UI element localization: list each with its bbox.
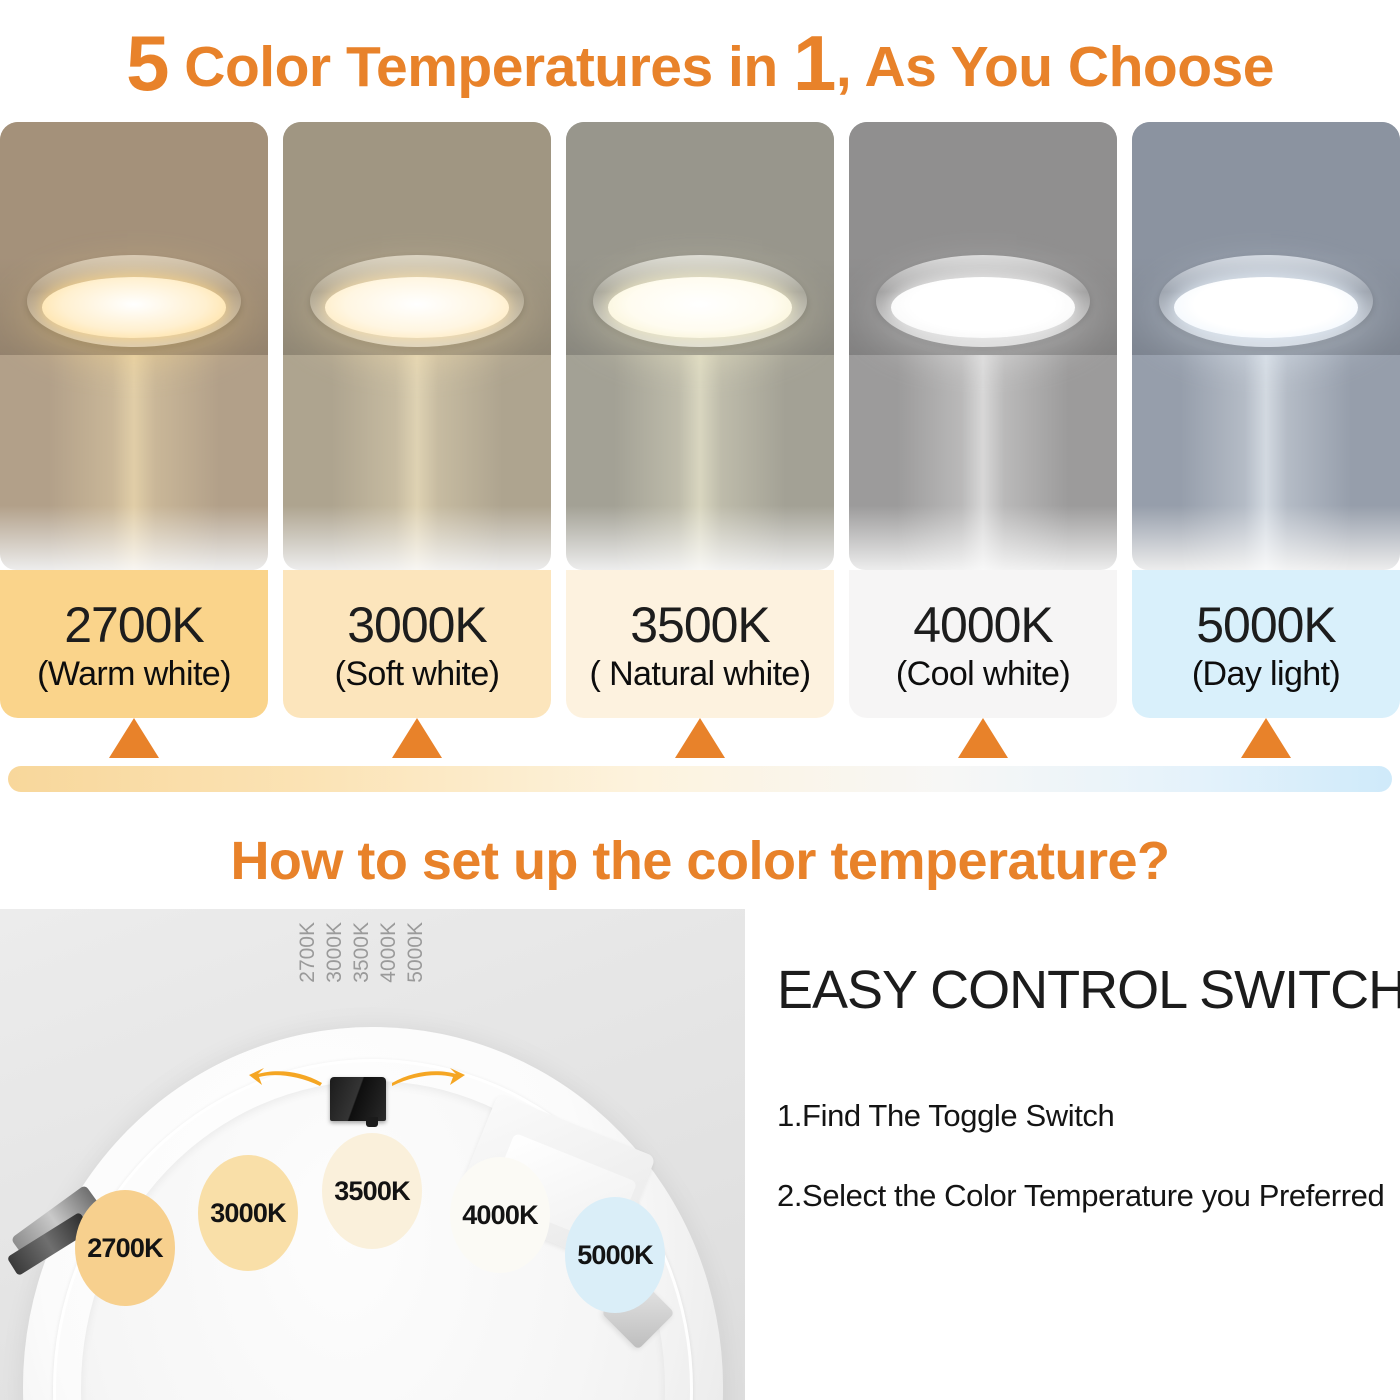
pointer-triangle <box>958 718 1008 758</box>
ceiling-lamp <box>593 255 807 347</box>
instruction-step-1: 1.Find The Toggle Switch <box>777 1097 1114 1135</box>
bubble-5000k: 5000K <box>565 1197 665 1313</box>
lamp-face <box>325 277 509 338</box>
lamp-face <box>1174 277 1358 338</box>
kelvin-value: 3000K <box>347 597 487 653</box>
lamp-face <box>608 277 792 338</box>
lamp-face <box>891 277 1075 338</box>
kelvin-tick-4000k: 4000K <box>377 922 401 983</box>
light-beam <box>283 355 551 570</box>
temperature-panel-3000k: 3000K(Soft white) <box>283 122 551 742</box>
pointer-triangle <box>392 718 442 758</box>
instruction-step-2: 2.Select the Color Temperature you Prefe… <box>777 1177 1384 1215</box>
ceiling-lamp <box>27 255 241 347</box>
setup-subheading: How to set up the color temperature? <box>0 828 1400 894</box>
scene-image <box>566 122 834 570</box>
arrow-right-icon <box>390 1066 466 1088</box>
kelvin-tick-5000k: 5000K <box>404 922 428 983</box>
light-beam <box>566 355 834 570</box>
temperature-label: 3000K(Soft white) <box>283 570 551 718</box>
scene-image <box>0 122 268 570</box>
temperature-panel-4000k: 4000K(Cool white) <box>849 122 1117 742</box>
infographic-page: 5 Color Temperatures in 1, As You Choose… <box>0 0 1400 1400</box>
scene-image <box>1132 122 1400 570</box>
pointer-triangle <box>675 718 725 758</box>
title-number-1: 1 <box>793 19 836 107</box>
ceiling-lamp <box>876 255 1090 347</box>
temperature-label: 2700K(Warm white) <box>0 570 268 718</box>
kelvin-name: (Soft white) <box>335 653 500 695</box>
title-text-tail: , As You Choose <box>836 35 1274 99</box>
kelvin-name: (Cool white) <box>896 653 1070 695</box>
kelvin-value: 3500K <box>630 597 770 653</box>
kelvin-value: 2700K <box>64 597 204 653</box>
light-beam <box>849 355 1117 570</box>
ceiling-lamp <box>1159 255 1373 347</box>
kelvin-tick-3500k: 3500K <box>350 922 374 983</box>
title-text-mid: Color Temperatures in <box>169 35 793 99</box>
instructions-pane: EASY CONTROL SWITCH 1.Find The Toggle Sw… <box>745 909 1400 1400</box>
temperature-label: 4000K(Cool white) <box>849 570 1117 718</box>
kelvin-name: (Day light) <box>1192 653 1340 695</box>
toggle-switch[interactable] <box>330 1077 386 1121</box>
light-beam <box>1132 355 1400 570</box>
color-temperature-panels: 2700K(Warm white)3000K(Soft white)3500K(… <box>0 122 1400 742</box>
kelvin-value: 5000K <box>1196 597 1336 653</box>
lamp-face <box>42 277 226 338</box>
scene-image <box>283 122 551 570</box>
bubble-3500k: 3500K <box>322 1133 422 1249</box>
title-number-5: 5 <box>126 19 169 107</box>
kelvin-name: (Warm white) <box>37 653 231 695</box>
bubble-2700k: 2700K <box>75 1190 175 1306</box>
scene-image <box>849 122 1117 570</box>
setup-section: EASY CONTROL SWITCH 1.Find The Toggle Sw… <box>0 909 1400 1400</box>
kelvin-tick-2700k: 2700K <box>296 922 320 983</box>
arrow-left-icon <box>248 1066 324 1088</box>
gradient-divider <box>8 766 1392 792</box>
pointer-triangle <box>109 718 159 758</box>
light-beam <box>0 355 268 570</box>
temperature-panel-3500k: 3500K( Natural white) <box>566 122 834 742</box>
temperature-panel-5000k: 5000K(Day light) <box>1132 122 1400 742</box>
temperature-panel-2700k: 2700K(Warm white) <box>0 122 268 742</box>
kelvin-name: ( Natural white) <box>590 653 811 695</box>
page-title: 5 Color Temperatures in 1, As You Choose <box>0 24 1400 106</box>
kelvin-scale-ticks: 2700K3000K3500K4000K5000K <box>296 922 428 1008</box>
pointer-triangle <box>1241 718 1291 758</box>
ceiling-lamp <box>310 255 524 347</box>
kelvin-tick-3000k: 3000K <box>323 922 347 983</box>
kelvin-value: 4000K <box>913 597 1053 653</box>
bubble-4000k: 4000K <box>450 1157 550 1273</box>
temperature-label: 5000K(Day light) <box>1132 570 1400 718</box>
temperature-label: 3500K( Natural white) <box>566 570 834 718</box>
instructions-title: EASY CONTROL SWITCH <box>777 961 1400 1019</box>
bubble-3000k: 3000K <box>198 1155 298 1271</box>
